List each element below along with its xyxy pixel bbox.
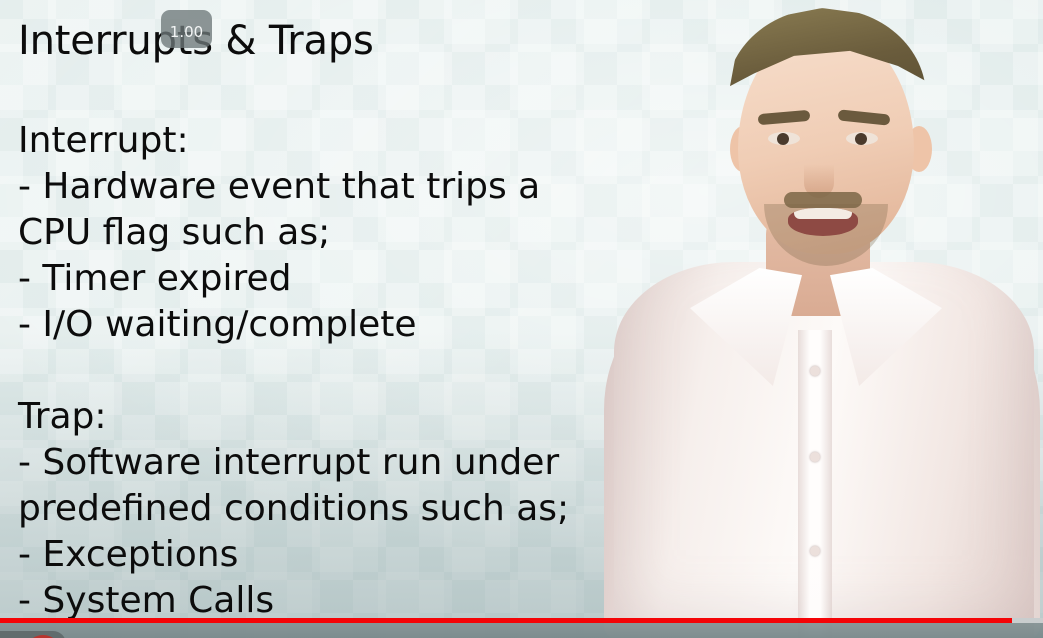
slide-line: - Exceptions bbox=[18, 532, 638, 578]
video-player[interactable]: Interrupts & Traps Interrupt: - Hardware… bbox=[0, 0, 1043, 638]
presenter-mouth bbox=[788, 208, 858, 236]
progress-bar-played[interactable] bbox=[0, 618, 1012, 623]
slide-line-spacer bbox=[18, 348, 638, 394]
slide-title: Interrupts & Traps bbox=[18, 16, 638, 66]
player-controls[interactable] bbox=[0, 616, 1043, 638]
presenter bbox=[598, 0, 1043, 638]
slide-line: predefined conditions such as; bbox=[18, 486, 638, 532]
slide-text-block: Interrupts & Traps Interrupt: - Hardware… bbox=[18, 16, 638, 624]
presenter-shirt-button bbox=[810, 546, 820, 556]
slide-line: - Software interrupt run under bbox=[18, 440, 638, 486]
slide-line-spacer bbox=[18, 72, 638, 118]
slide-line: CPU flag such as; bbox=[18, 210, 638, 256]
video-frame[interactable]: Interrupts & Traps Interrupt: - Hardware… bbox=[0, 0, 1043, 638]
slide-line: - Hardware event that trips a bbox=[18, 164, 638, 210]
presenter-nose bbox=[804, 146, 834, 198]
slide-body: Interrupt: - Hardware event that trips a… bbox=[18, 72, 638, 624]
presenter-shirt-button bbox=[810, 452, 820, 462]
slide-line: - I/O waiting/complete bbox=[18, 302, 638, 348]
presenter-moustache bbox=[784, 192, 862, 208]
slide-line: - Timer expired bbox=[18, 256, 638, 302]
progress-bar-track[interactable] bbox=[0, 618, 1043, 623]
slide-line: Interrupt: bbox=[18, 118, 638, 164]
presenter-shirt-button bbox=[810, 366, 820, 376]
control-bar[interactable] bbox=[0, 623, 1043, 638]
slide-line: Trap: bbox=[18, 394, 638, 440]
presenter-eye-right bbox=[846, 132, 878, 145]
presenter-shirt-placket bbox=[798, 330, 832, 638]
playback-speed-badge[interactable]: 1.00 bbox=[161, 10, 212, 48]
presenter-eye-left bbox=[768, 132, 800, 145]
presenter-teeth bbox=[794, 208, 852, 219]
